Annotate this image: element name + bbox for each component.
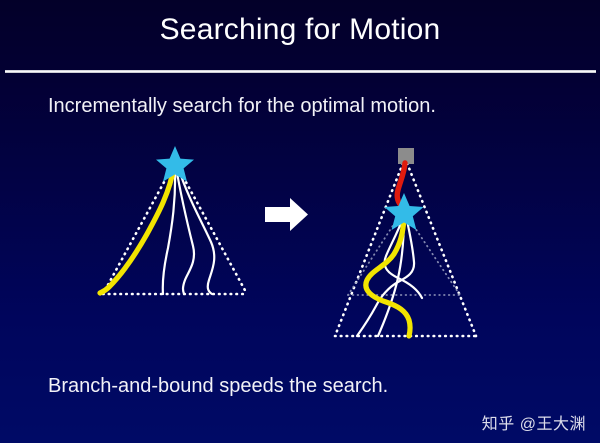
- statement-top: Incrementally search for the optimal mot…: [48, 93, 436, 119]
- page-title: Searching for Motion: [0, 11, 600, 49]
- left-panel-group: [100, 146, 247, 294]
- figure-search-tree-diagram: [0, 130, 600, 365]
- slide-canvas: Searching for Motion Incrementally searc…: [0, 0, 600, 443]
- watermark-attribution: 知乎 @王大渊: [482, 415, 586, 435]
- right-arrow-icon: [265, 198, 308, 231]
- statement-bottom: Branch-and-bound speeds the search.: [48, 373, 388, 399]
- right-bound-triangle: [335, 158, 476, 336]
- title-divider: [5, 70, 596, 73]
- right-best-path: [366, 218, 410, 336]
- right-panel-group: [335, 148, 476, 336]
